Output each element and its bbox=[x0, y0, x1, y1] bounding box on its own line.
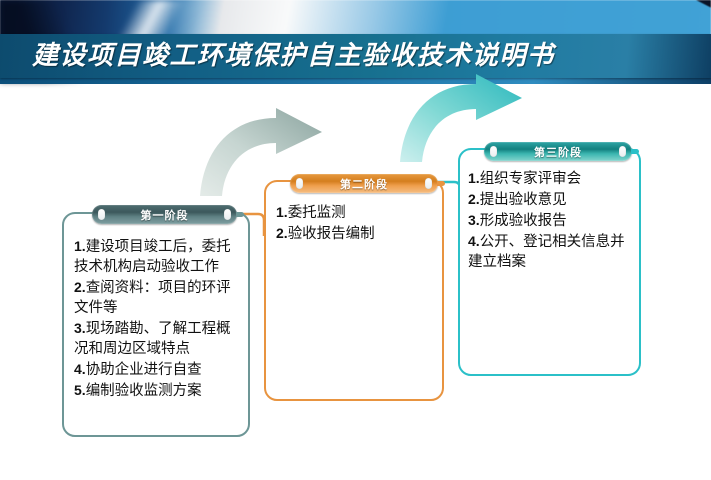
phase-1-body: 1.建设项目竣工后，委托技术机构启动验收工作 2.查阅资料：项目的环评文件等 3… bbox=[74, 236, 242, 401]
list-item: 1.组织专家评审会 bbox=[468, 168, 636, 189]
item-text: 编制验收监测方案 bbox=[86, 383, 202, 399]
item-number: 1. bbox=[468, 170, 480, 186]
item-number: 2. bbox=[74, 279, 86, 295]
item-number: 3. bbox=[74, 320, 86, 336]
item-number: 5. bbox=[74, 382, 86, 398]
phase-1-header-pill: 第一阶段 bbox=[92, 205, 237, 224]
item-text: 验收报告编制 bbox=[288, 226, 375, 242]
list-item: 4.公开、登记相关信息并建立档案 bbox=[468, 231, 636, 272]
item-number: 3. bbox=[468, 212, 480, 228]
phase-3-header-label: 第三阶段 bbox=[534, 144, 582, 160]
slide-canvas: 建设项目竣工环境保护自主验收技术说明书 第一阶 bbox=[0, 0, 711, 480]
item-text: 提出验收意见 bbox=[480, 192, 567, 208]
list-item: 2.提出验收意见 bbox=[468, 189, 636, 210]
item-text: 形成验收报告 bbox=[480, 213, 567, 229]
pill-tail-1 bbox=[236, 212, 244, 217]
list-item: 3.现场踏勘、了解工程概况和周边区域特点 bbox=[74, 318, 242, 359]
item-text: 组织专家评审会 bbox=[480, 171, 582, 187]
item-text: 协助企业进行自查 bbox=[86, 362, 202, 378]
pill-cap-right-icon bbox=[425, 178, 432, 189]
pill-cap-right-icon bbox=[224, 209, 231, 220]
pill-cap-left-icon bbox=[490, 146, 497, 157]
page-title: 建设项目竣工环境保护自主验收技术说明书 bbox=[32, 34, 692, 78]
item-number: 4. bbox=[74, 361, 86, 377]
pill-cap-right-icon bbox=[619, 146, 626, 157]
item-text: 现场踏勘、了解工程概况和周边区域特点 bbox=[74, 321, 231, 357]
list-item: 1.委托监测 bbox=[276, 202, 436, 223]
pill-cap-left-icon bbox=[296, 178, 303, 189]
item-number: 2. bbox=[468, 191, 480, 207]
item-number: 1. bbox=[276, 204, 288, 220]
item-text: 委托监测 bbox=[288, 205, 346, 221]
phase-2-body: 1.委托监测 2.验收报告编制 bbox=[276, 202, 436, 244]
pill-tail-2 bbox=[437, 181, 445, 186]
list-item: 5.编制验收监测方案 bbox=[74, 380, 242, 401]
item-text: 公开、登记相关信息并建立档案 bbox=[468, 234, 625, 270]
item-text: 查阅资料：项目的环评文件等 bbox=[74, 280, 231, 316]
list-item: 2.查阅资料：项目的环评文件等 bbox=[74, 277, 242, 318]
list-item: 3.形成验收报告 bbox=[468, 210, 636, 231]
list-item: 1.建设项目竣工后，委托技术机构启动验收工作 bbox=[74, 236, 242, 277]
phase-3-body: 1.组织专家评审会 2.提出验收意见 3.形成验收报告 4.公开、登记相关信息并… bbox=[468, 168, 636, 272]
item-text: 建设项目竣工后，委托技术机构启动验收工作 bbox=[74, 239, 231, 275]
phase-2-header-pill: 第二阶段 bbox=[290, 174, 438, 193]
item-number: 2. bbox=[276, 225, 288, 241]
item-number: 1. bbox=[74, 238, 86, 254]
pill-cap-left-icon bbox=[98, 209, 105, 220]
list-item: 4.协助企业进行自查 bbox=[74, 359, 242, 380]
phase-2-header-label: 第二阶段 bbox=[340, 176, 388, 192]
phase-1-header-label: 第一阶段 bbox=[141, 207, 189, 223]
pill-tail-3 bbox=[631, 149, 639, 154]
phase-3-header-pill: 第三阶段 bbox=[484, 142, 632, 161]
list-item: 2.验收报告编制 bbox=[276, 223, 436, 244]
item-number: 4. bbox=[468, 233, 480, 249]
